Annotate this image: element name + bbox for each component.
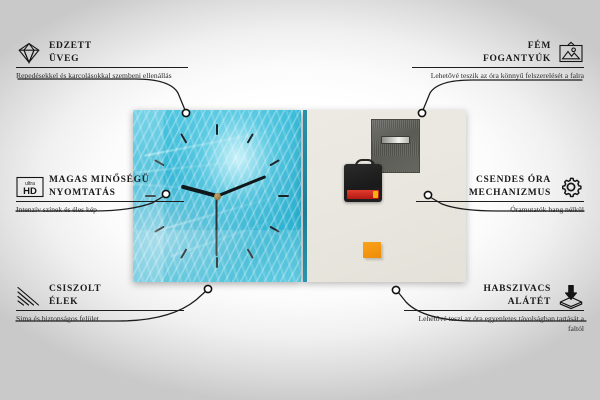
feature-quiet-mechanism: CSENDES ÓRA MECHANIZMUS Óramutatók hang … (416, 174, 584, 215)
picture-hanger-icon (558, 41, 584, 65)
feature-title-line1: CSISZOLT (49, 283, 101, 296)
foam-pad-arrow-icon (558, 284, 584, 308)
gear-icon (558, 175, 584, 199)
hanger-slot (381, 136, 410, 144)
feature-title-line2: NYOMTATÁS (49, 187, 149, 200)
feature-title-line2: MECHANIZMUS (469, 187, 551, 200)
feature-title-line1: MAGAS MINŐSÉGŰ (49, 174, 149, 187)
feature-title-line1: HABSZIVACS (483, 283, 551, 296)
callout-dot-polished-edges (204, 285, 211, 292)
feature-title-line1: FÉM (483, 40, 551, 53)
ultra-hd-icon: ultra HD (16, 175, 42, 199)
infographic-canvas: EDZETT ÜVEG Repedésekkel és karcolásokka… (0, 0, 600, 400)
diamond-icon (16, 41, 42, 65)
clock-center-cap (214, 193, 221, 200)
feature-foam-pad: HABSZIVACS ALÁTÉT Lehetővé teszi az óra … (404, 283, 584, 334)
clock-mechanism (344, 164, 382, 202)
callout-dot-foam-pad (392, 286, 399, 293)
feature-hd-print: ultra HD MAGAS MINŐSÉGŰ NYOMTATÁS Intenz… (16, 174, 184, 215)
feature-polished-edges: CSISZOLT ÉLEK Sima és biztonságos felüle… (16, 283, 184, 324)
battery (347, 190, 379, 199)
feature-metal-hangers: FÉM FOGANTYÚK Lehetővé teszik az óra kön… (412, 40, 584, 81)
polished-edges-icon (16, 284, 42, 308)
feature-description: Lehetővé teszi az óra egyenletes távolsá… (404, 311, 584, 334)
feature-title-line1: EDZETT (49, 40, 92, 53)
feature-title-line2: ALÁTÉT (483, 296, 551, 309)
feature-description: Óramutatók hang nélkül (416, 202, 584, 215)
feature-title-line2: ÜVEG (49, 53, 92, 66)
feature-title-line2: ÉLEK (49, 296, 101, 309)
feature-description: Repedésekkel és karcolásokkal szembeni e… (16, 68, 188, 81)
svg-text:HD: HD (23, 186, 37, 197)
foam-spacer-pad (363, 242, 381, 258)
feature-description: Intenzív színek és éles kép (16, 202, 184, 215)
feature-title-line1: CSENDES ÓRA (469, 174, 551, 187)
feature-description: Lehetővé teszik az óra könnyű felszerelé… (412, 68, 584, 81)
feature-tempered-glass: EDZETT ÜVEG Repedésekkel és karcolásokka… (16, 40, 188, 81)
mechanism-loop (355, 159, 375, 169)
feature-title-line2: FOGANTYÚK (483, 53, 551, 66)
feature-description: Sima és biztonságos felület (16, 311, 184, 324)
